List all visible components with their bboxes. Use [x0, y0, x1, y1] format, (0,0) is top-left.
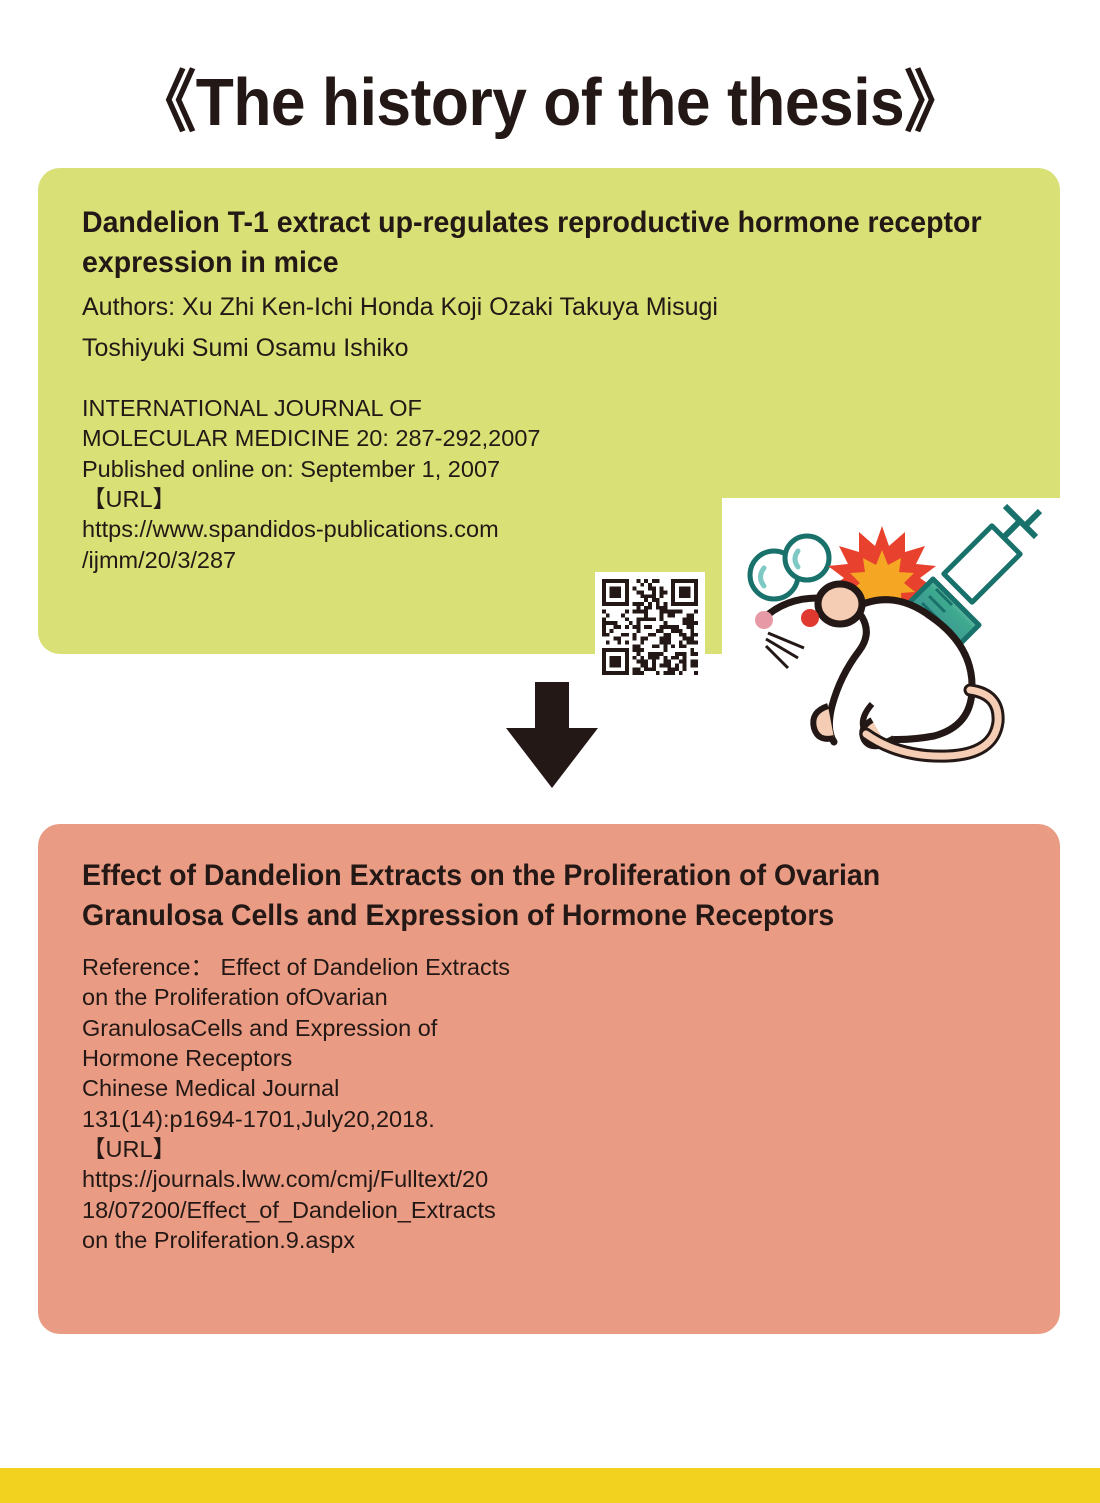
panel-2-citation: Reference： Effect of Dandelion Extracts … — [82, 952, 602, 1255]
qr-code-spandidos-image — [602, 579, 698, 675]
page-title: 《The history of the thesis》 — [39, 48, 1062, 145]
panel-paper-2: Effect of Dandelion Extracts on the Prol… — [38, 824, 1060, 1334]
panel-1-authors: Authors: Xu Zhi Ken-Ichi Honda Koji Ozak… — [82, 287, 802, 368]
poster-page: 《The history of the thesis》 Dandelion T-… — [0, 0, 1100, 1503]
syringe-icon — [944, 506, 1040, 602]
lab-mouse-injection-illustration — [722, 498, 1062, 779]
panel-2-heading: Effect of Dandelion Extracts on the Prol… — [82, 856, 1008, 935]
bottom-accent-bar — [0, 1468, 1100, 1503]
panel-1-citation: INTERNATIONAL JOURNAL OF MOLECULAR MEDIC… — [82, 393, 602, 575]
qr-code-spandidos[interactable] — [595, 572, 705, 682]
panel-1-heading: Dandelion T-1 extract up-regulates repro… — [82, 203, 994, 282]
down-arrow-icon — [506, 682, 598, 788]
panel-paper-1: Dandelion T-1 extract up-regulates repro… — [38, 168, 1060, 654]
